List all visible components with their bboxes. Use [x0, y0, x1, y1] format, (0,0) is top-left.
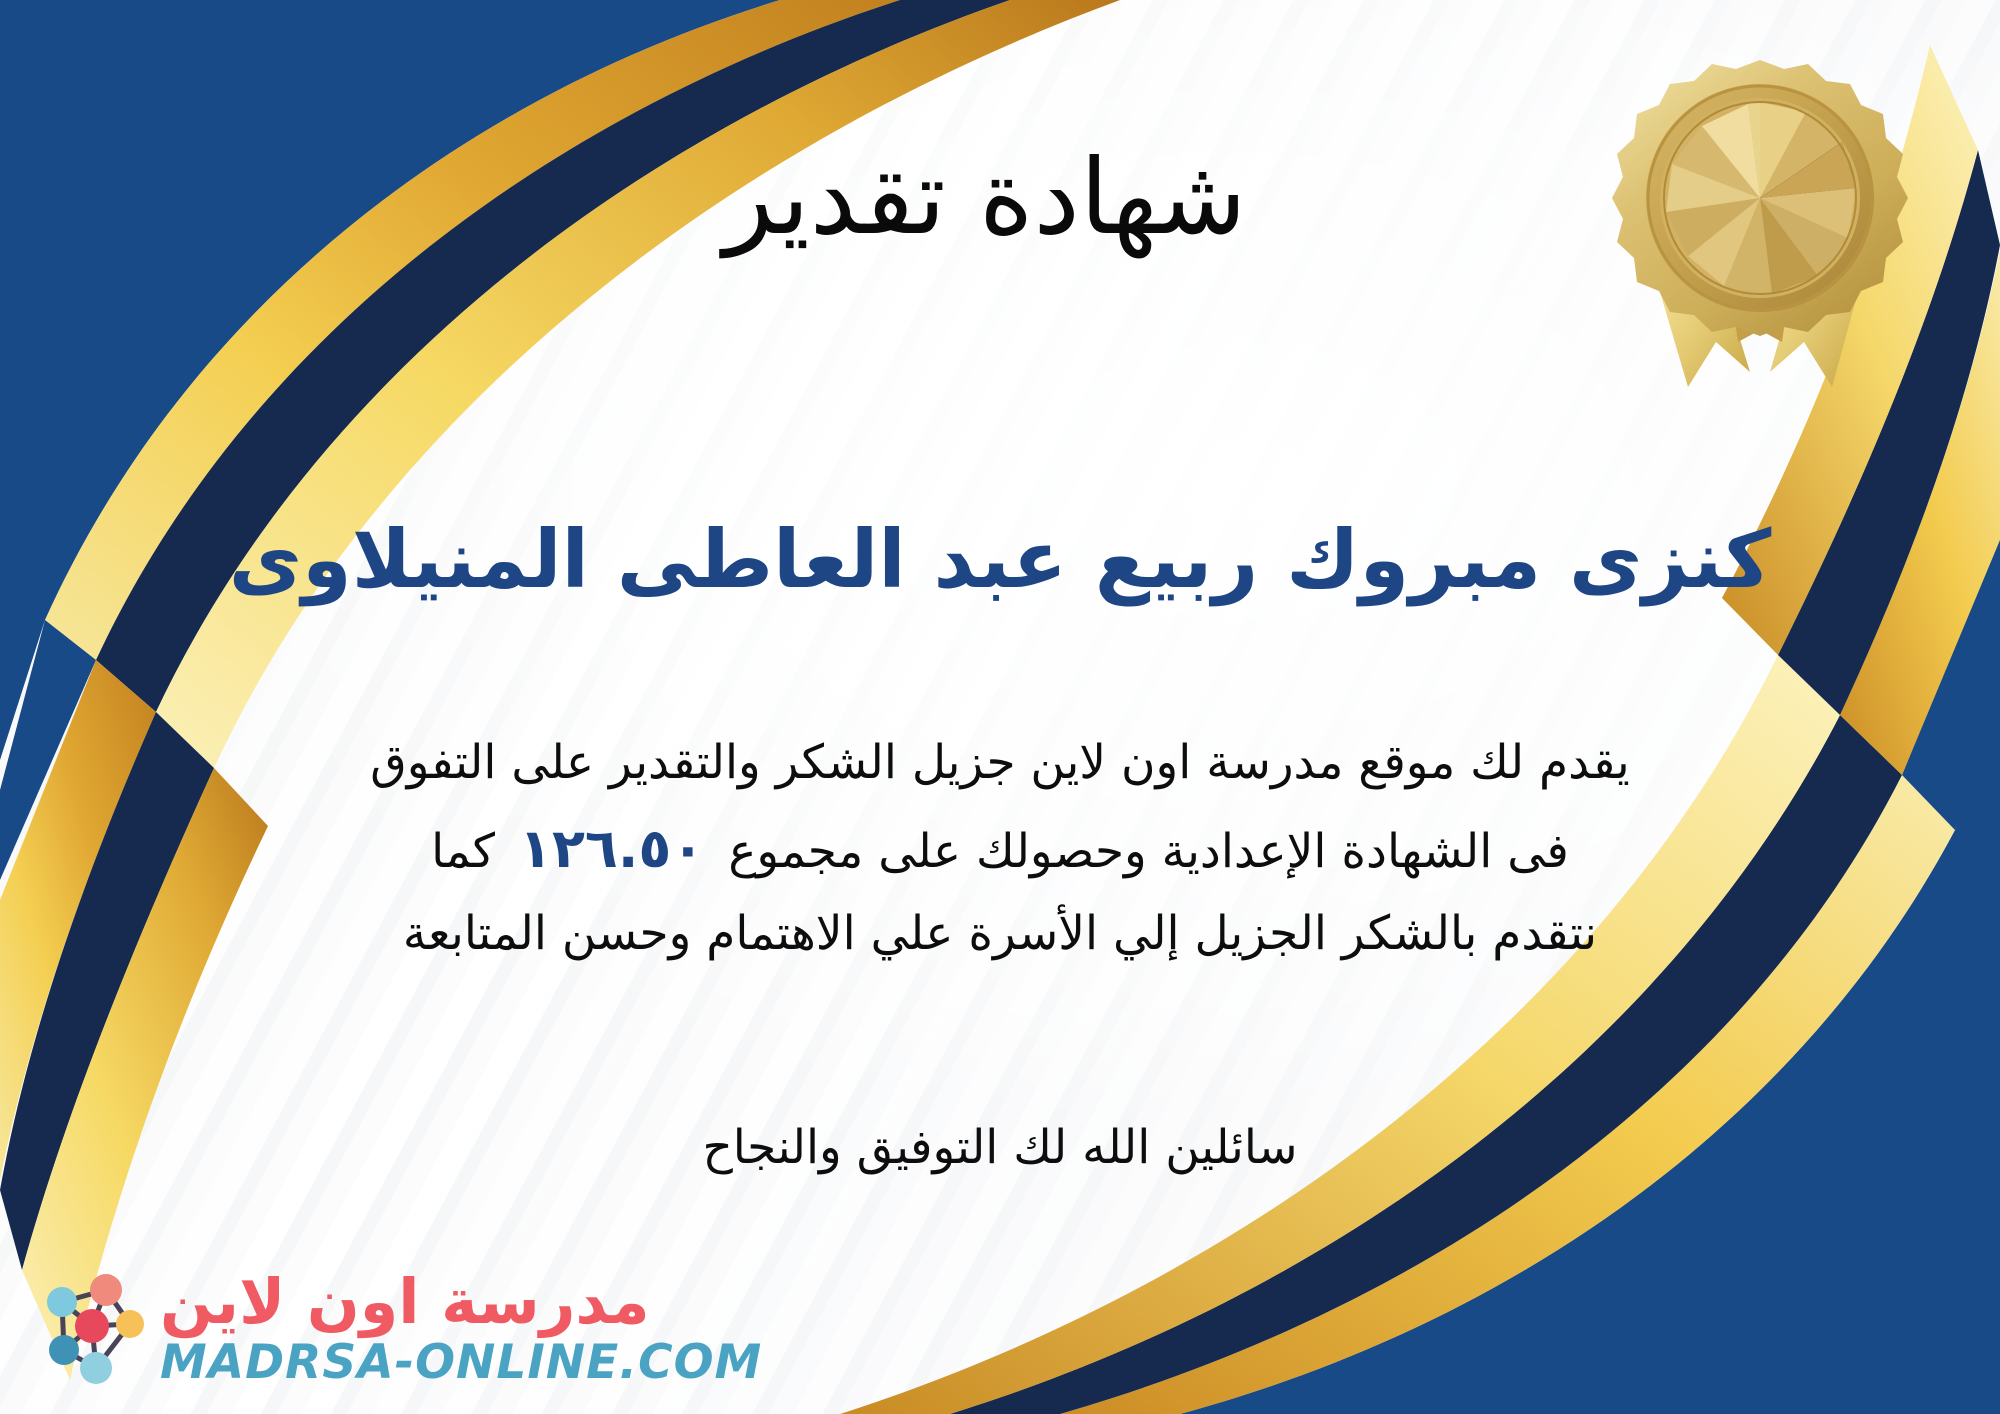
body-line-2-suffix: كما — [431, 824, 495, 879]
closing-wish: سائلين الله لك التوفيق والنجاح — [0, 1115, 2000, 1181]
body-line-2: فى الشهادة الإعدادية وحصولك على مجموع١٢٦… — [70, 811, 1930, 888]
body-line-2-prefix: فى الشهادة الإعدادية وحصولك على مجموع — [728, 824, 1569, 879]
brand-website-url[interactable]: MADRSA-ONLINE.COM — [160, 1339, 762, 1386]
certificate-title: شهادة تقدير — [0, 138, 2000, 258]
node-light-blue-bottom — [80, 1352, 112, 1384]
certificate-body: يقدم لك موقع مدرسة اون لاين جزيل الشكر و… — [70, 730, 1930, 982]
recipient-name: كنزى مبروك ربيع عبد العاطى المنيلاوى — [0, 512, 2000, 608]
node-teal-bottom-left — [49, 1335, 79, 1365]
score-value: ١٢٦.٥٠ — [495, 817, 728, 880]
certificate-page: شهادة تقدير كنزى مبروك ربيع عبد العاطى ا… — [0, 0, 2000, 1414]
network-nodes-icon — [34, 1268, 146, 1388]
node-light-blue-top-left — [47, 1287, 77, 1317]
brand-logo[interactable]: مدرسة اون لاين MADRSA-ONLINE.COM — [34, 1268, 762, 1388]
body-line-3: نتقدم بالشكر الجزيل إلي الأسرة علي الاهت… — [70, 901, 1930, 968]
certificate-content: شهادة تقدير كنزى مبروك ربيع عبد العاطى ا… — [0, 0, 2000, 1414]
node-red-center — [75, 1309, 109, 1343]
node-coral-top — [90, 1274, 122, 1306]
body-line-1: يقدم لك موقع مدرسة اون لاين جزيل الشكر و… — [70, 730, 1930, 797]
brand-arabic-name: مدرسة اون لاين — [160, 1271, 650, 1333]
brand-text: مدرسة اون لاين MADRSA-ONLINE.COM — [160, 1271, 762, 1386]
node-orange-right — [116, 1310, 144, 1338]
